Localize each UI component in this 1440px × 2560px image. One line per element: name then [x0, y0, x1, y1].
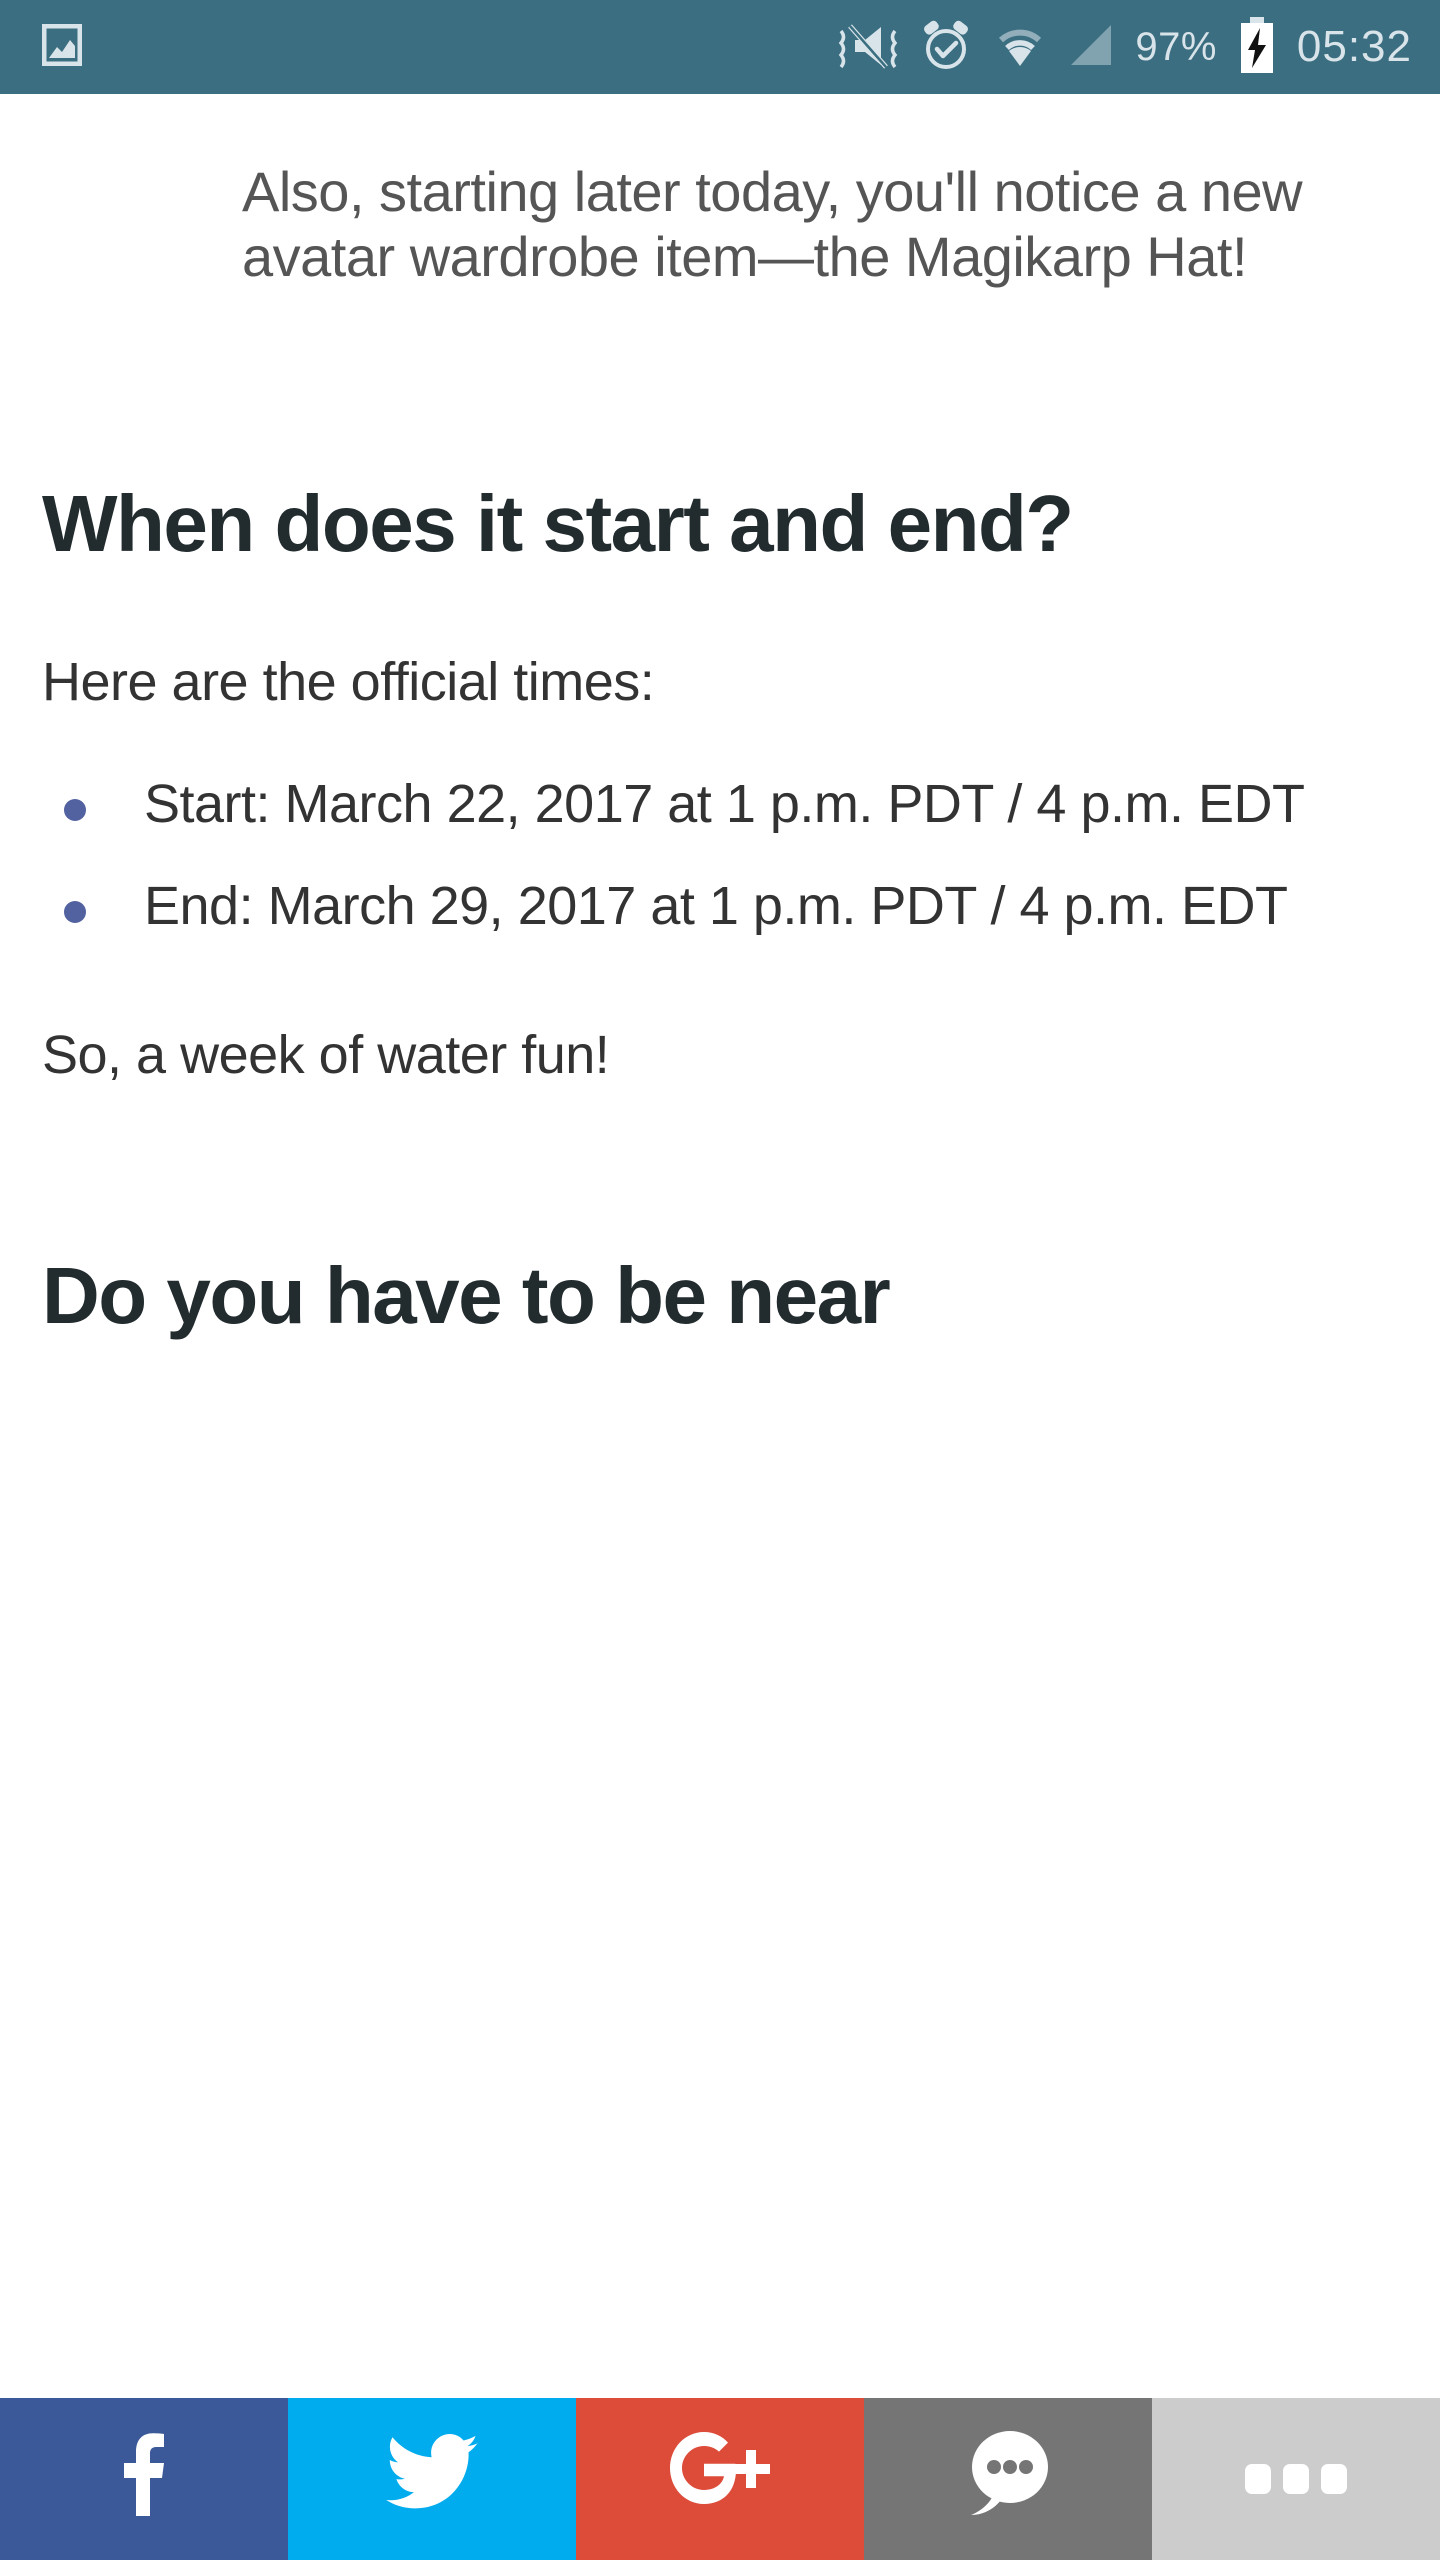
official-times-list: Start: March 22, 2017 at 1 p.m. PDT / 4 …: [0, 713, 1440, 937]
heading-when-does-it-start-and-end: When does it start and end?: [0, 290, 1440, 567]
more-dots-icon: [1245, 2464, 1347, 2494]
share-facebook-button[interactable]: [0, 2398, 288, 2560]
cellular-signal-icon: [1067, 21, 1115, 74]
social-share-bar[interactable]: [0, 2398, 1440, 2560]
sound-mute-vibrate-icon: [837, 19, 899, 76]
status-bar[interactable]: 97% 05:32: [0, 0, 1440, 94]
heading-do-you-have-to-be-near: Do you have to be near: [0, 1086, 1440, 1339]
status-bar-clock: 05:32: [1297, 25, 1412, 69]
wifi-icon: [993, 20, 1047, 75]
article-content[interactable]: Also, starting later today, you'll notic…: [0, 94, 1440, 2398]
google-plus-icon: [668, 2432, 772, 2526]
twitter-icon: [386, 2434, 478, 2524]
share-googleplus-button[interactable]: [576, 2398, 864, 2560]
list-item-label: End: March 29, 2017 at 1 p.m. PDT / 4 p.…: [144, 876, 1288, 936]
bullet-icon: [64, 901, 86, 923]
share-comments-button[interactable]: [864, 2398, 1152, 2560]
paragraph-official-times: Here are the official times:: [0, 567, 1440, 714]
list-item-label: Start: March 22, 2017 at 1 p.m. PDT / 4 …: [144, 774, 1304, 834]
facebook-icon: [116, 2430, 172, 2528]
battery-charging-icon: [1237, 17, 1277, 78]
share-twitter-button[interactable]: [288, 2398, 576, 2560]
list-item: End: March 29, 2017 at 1 p.m. PDT / 4 p.…: [42, 875, 1400, 938]
share-more-button[interactable]: [1152, 2398, 1440, 2560]
status-bar-right-icons: 97% 05:32: [837, 17, 1412, 78]
bullet-icon: [64, 799, 86, 821]
dot: [1321, 2464, 1347, 2494]
comment-bubble-icon: [965, 2429, 1051, 2529]
status-bar-left-icons: [42, 24, 82, 71]
screenshot-image-icon: [42, 24, 82, 71]
intro-paragraph: Also, starting later today, you'll notic…: [0, 94, 1440, 290]
paragraph-water-fun: So, a week of water fun!: [0, 938, 1440, 1087]
dot: [1283, 2464, 1309, 2494]
dot: [1245, 2464, 1271, 2494]
battery-percent-label: 97%: [1135, 27, 1217, 67]
alarm-clock-icon: [919, 18, 973, 77]
list-item: Start: March 22, 2017 at 1 p.m. PDT / 4 …: [42, 773, 1400, 836]
